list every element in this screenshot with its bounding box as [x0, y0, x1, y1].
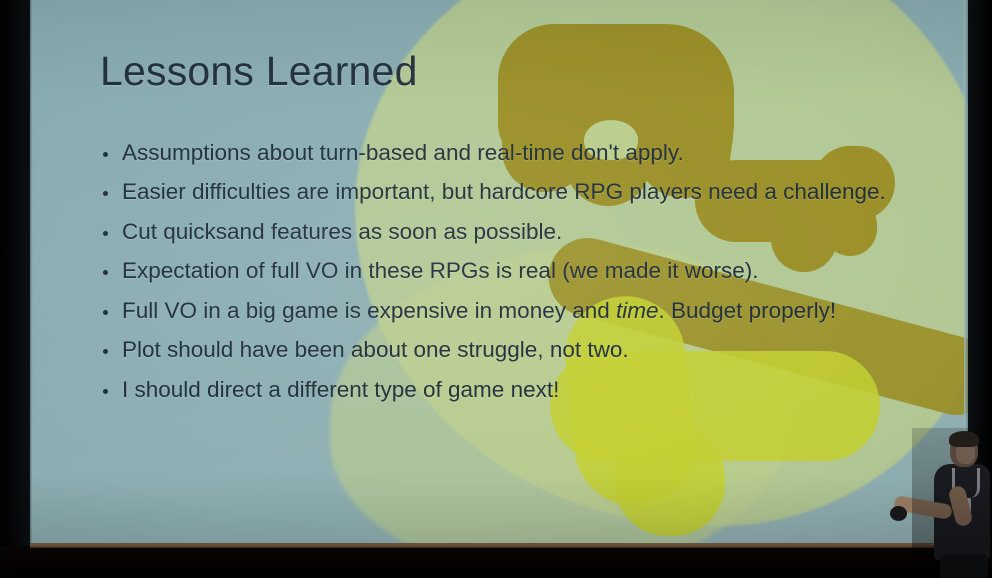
- speaker-hair: [949, 431, 979, 447]
- slide-bullet-item: Assumptions about turn-based and real-ti…: [100, 138, 890, 168]
- slide-bullet-item: Plot should have been about one struggle…: [100, 335, 890, 365]
- bullet-dot-icon: [103, 152, 108, 157]
- room-floor-shadow: [0, 546, 992, 578]
- room-left-shadow: [0, 0, 34, 578]
- bullet-text-suffix: . Budget properly!: [659, 298, 837, 323]
- slide-bullet-item: I should direct a different type of game…: [100, 375, 890, 405]
- bullet-dot-icon: [103, 191, 108, 196]
- bullet-dot-icon: [103, 270, 108, 275]
- bullet-text: Full VO in a big game is expensive in mo…: [122, 298, 616, 323]
- speaker-person: [912, 428, 990, 578]
- slide-bullet-item: Expectation of full VO in these RPGs is …: [100, 256, 890, 286]
- slide-bullet-list: Assumptions about turn-based and real-ti…: [100, 138, 890, 414]
- slide-bullet-item: Full VO in a big game is expensive in mo…: [100, 296, 890, 326]
- bullet-text: Assumptions about turn-based and real-ti…: [122, 140, 684, 165]
- speaker-lower-body: [940, 554, 988, 578]
- bullet-emphasis-text: time: [616, 298, 659, 323]
- bullet-text: Cut quicksand features as soon as possib…: [122, 219, 562, 244]
- slide-bullet-item: Cut quicksand features as soon as possib…: [100, 217, 890, 247]
- bullet-dot-icon: [103, 389, 108, 394]
- projection-screen: Lessons Learned Assumptions about turn-b…: [30, 0, 968, 548]
- bullet-dot-icon: [103, 310, 108, 315]
- slide-title: Lessons Learned: [100, 48, 418, 95]
- slide-bullet-item: Easier difficulties are important, but h…: [100, 177, 890, 207]
- screenshot-stage: Lessons Learned Assumptions about turn-b…: [0, 0, 992, 578]
- bullet-dot-icon: [103, 349, 108, 354]
- slide-content: Lessons Learned Assumptions about turn-b…: [30, 0, 968, 548]
- bullet-text: Expectation of full VO in these RPGs is …: [122, 258, 759, 283]
- screen-bottom-frame: [30, 543, 968, 548]
- bullet-text: Plot should have been about one struggle…: [122, 337, 629, 362]
- speaker-hand: [890, 506, 907, 521]
- bullet-text: Easier difficulties are important, but h…: [122, 179, 886, 204]
- screen-left-edge: [30, 0, 33, 548]
- bullet-text: I should direct a different type of game…: [122, 377, 559, 402]
- bullet-dot-icon: [103, 231, 108, 236]
